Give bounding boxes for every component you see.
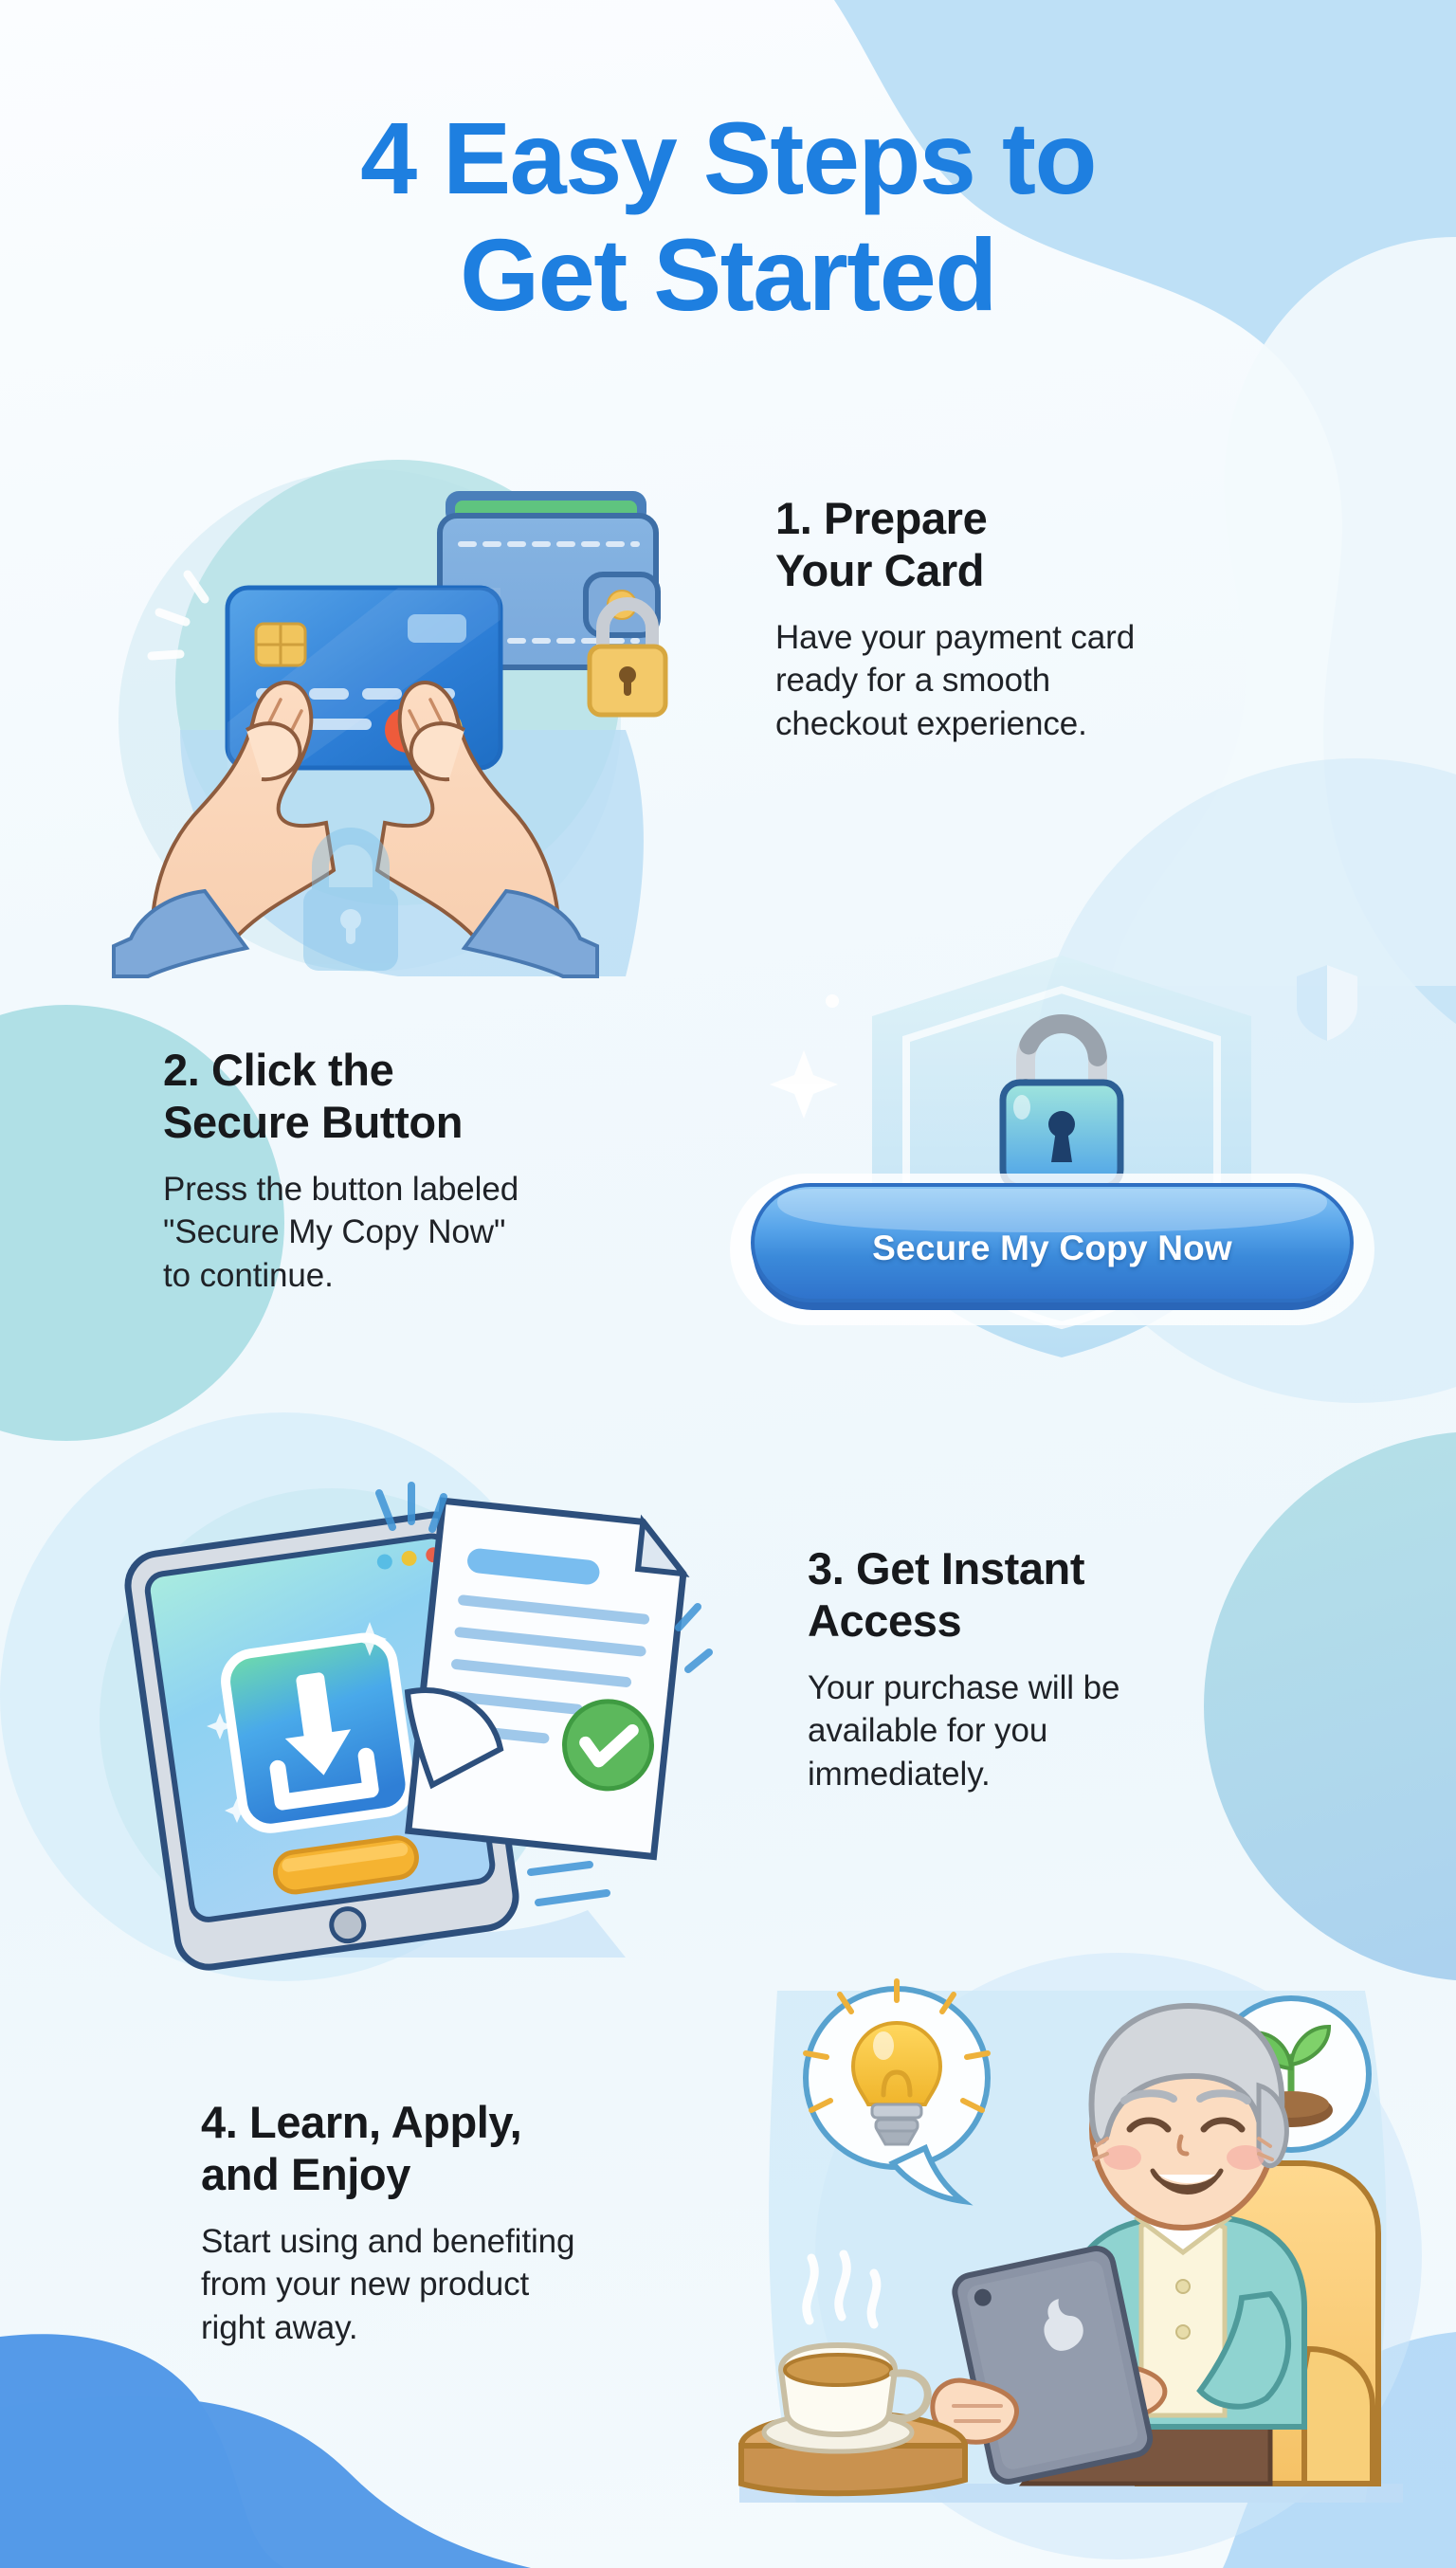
step-4-body: Start using and benefiting from your new… xyxy=(201,2220,751,2350)
step-1-body: Have your payment card ready for a smoot… xyxy=(775,616,1325,746)
tablet-download-document-illustration xyxy=(95,1465,739,1958)
page-title: 4 Easy Steps to Get Started xyxy=(0,100,1456,333)
step-3-body: Your purchase will be available for you … xyxy=(808,1666,1338,1796)
step-2-body: Press the button labeled "Secure My Copy… xyxy=(163,1168,694,1298)
secure-button-illustration: Secure My Copy Now xyxy=(720,948,1384,1365)
step-2: 2. Click the Secure Button Press the but… xyxy=(163,1045,694,1297)
document-icon xyxy=(409,1501,688,1856)
blob-bottom-left xyxy=(0,2334,284,2568)
step-3-heading: 3. Get Instant Access xyxy=(808,1543,1338,1648)
step-1-heading: 1. Prepare Your Card xyxy=(775,493,1325,597)
cta-button-label[interactable]: Secure My Copy Now xyxy=(753,1193,1352,1304)
step-1: 1. Prepare Your Card Have your payment c… xyxy=(775,493,1325,745)
step-4: 4. Learn, Apply, and Enjoy Start using a… xyxy=(201,2097,751,2349)
step-2-heading: 2. Click the Secure Button xyxy=(163,1045,694,1149)
blob-bottom-left-large xyxy=(0,2396,531,2568)
step-3: 3. Get Instant Access Your purchase will… xyxy=(808,1543,1338,1795)
page-title-line-1: 4 Easy Steps to xyxy=(0,100,1456,216)
senior-woman-tablet-illustration xyxy=(739,1953,1403,2503)
infographic-poster: 4 Easy Steps to Get Started xyxy=(0,0,1456,2568)
page-title-line-2: Get Started xyxy=(0,216,1456,333)
shield-small-icon xyxy=(1297,965,1357,1041)
step-4-heading: 4. Learn, Apply, and Enjoy xyxy=(201,2097,751,2201)
hands-holding-credit-card-illustration xyxy=(114,446,739,976)
